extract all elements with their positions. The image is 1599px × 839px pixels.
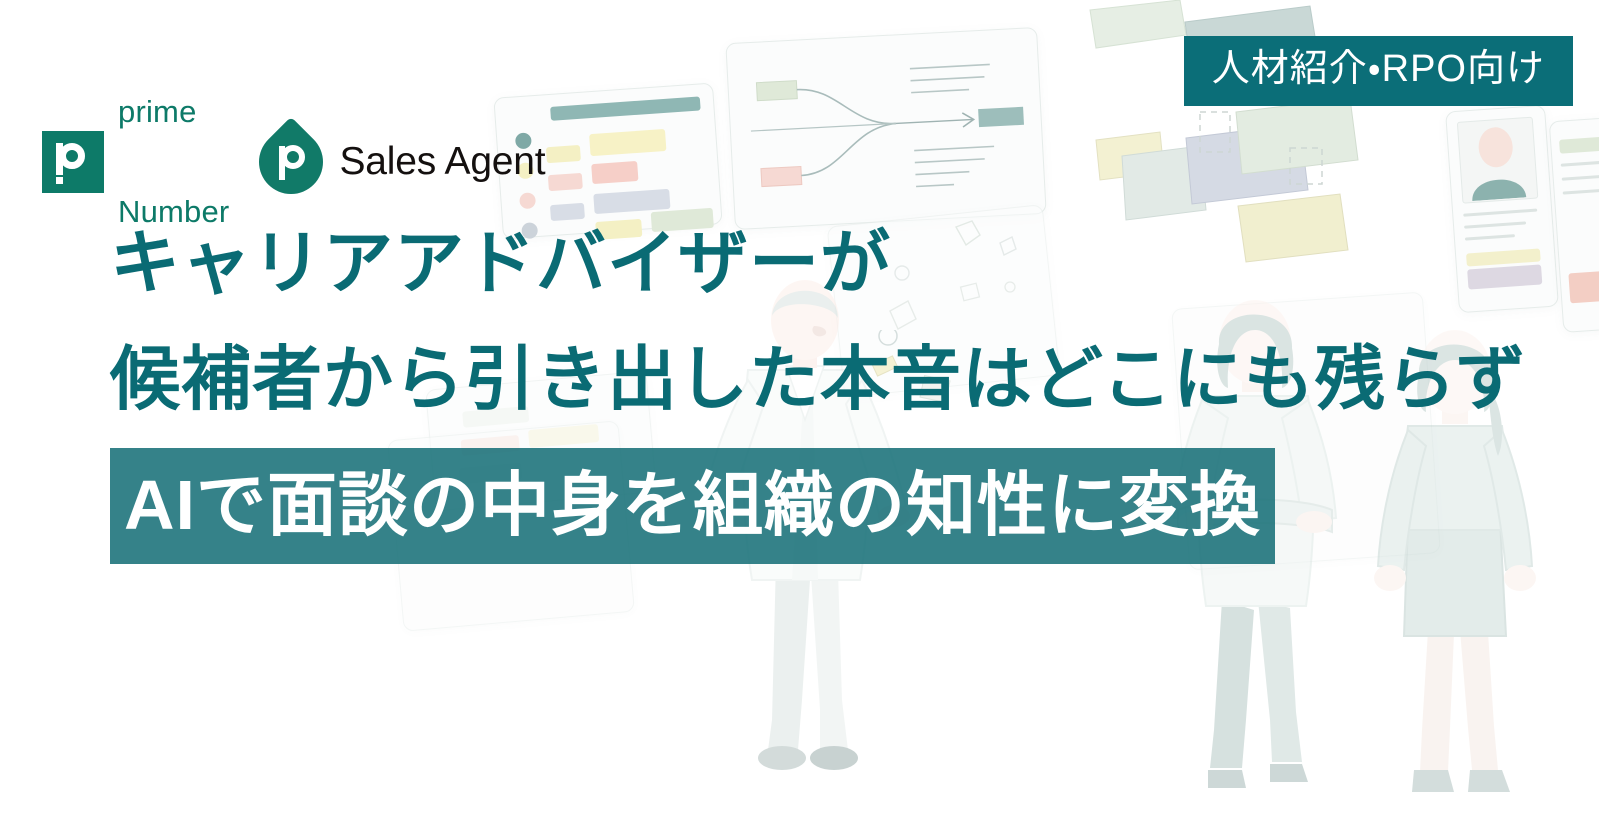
prime-number-word-line2: Number	[118, 195, 229, 228]
profile-card-edge	[1549, 115, 1599, 333]
p-bowl-shape	[59, 143, 85, 169]
hero-banner: prime Number Sales Agent 人材紹介・RPO向け キャリア…	[0, 0, 1599, 839]
profile-line	[1563, 187, 1599, 195]
profile-line	[1561, 159, 1599, 167]
row-chip	[593, 189, 670, 214]
profile-line	[1562, 174, 1599, 181]
headline-line-2: 候補者から引き出した本音はどこにも残らず	[110, 344, 1527, 414]
profile-chip	[1568, 269, 1599, 304]
row-chip	[550, 203, 585, 221]
target-audience-badge: 人材紹介・RPO向け	[1184, 36, 1573, 106]
sales-agent-mark-icon	[259, 130, 323, 194]
avatar-icon	[1457, 117, 1536, 202]
prime-number-mark-icon	[42, 131, 104, 193]
prime-number-word-line1: prime	[118, 95, 229, 128]
row-chip	[548, 173, 583, 191]
row-chip	[591, 161, 638, 184]
flow-diagram-card	[725, 27, 1046, 230]
card-header-bar	[550, 96, 701, 120]
profile-chip	[1559, 135, 1599, 154]
prime-number-logo[interactable]: prime Number	[42, 28, 229, 296]
logo-group: prime Number Sales Agent	[42, 28, 545, 296]
sales-agent-wordmark: Sales Agent	[339, 140, 545, 184]
flow-diagram-svg	[726, 28, 1045, 229]
headline-line-3-highlight: AIで面談の中身を組織の知性に変換	[110, 448, 1275, 564]
p-dot-shape	[56, 177, 63, 184]
profile-line	[1463, 209, 1537, 217]
sales-agent-logo[interactable]: Sales Agent	[259, 130, 545, 194]
avatar-frame	[1457, 117, 1539, 204]
row-chip	[546, 145, 581, 163]
prime-number-wordmark: prime Number	[118, 28, 229, 296]
row-chip	[589, 129, 666, 156]
